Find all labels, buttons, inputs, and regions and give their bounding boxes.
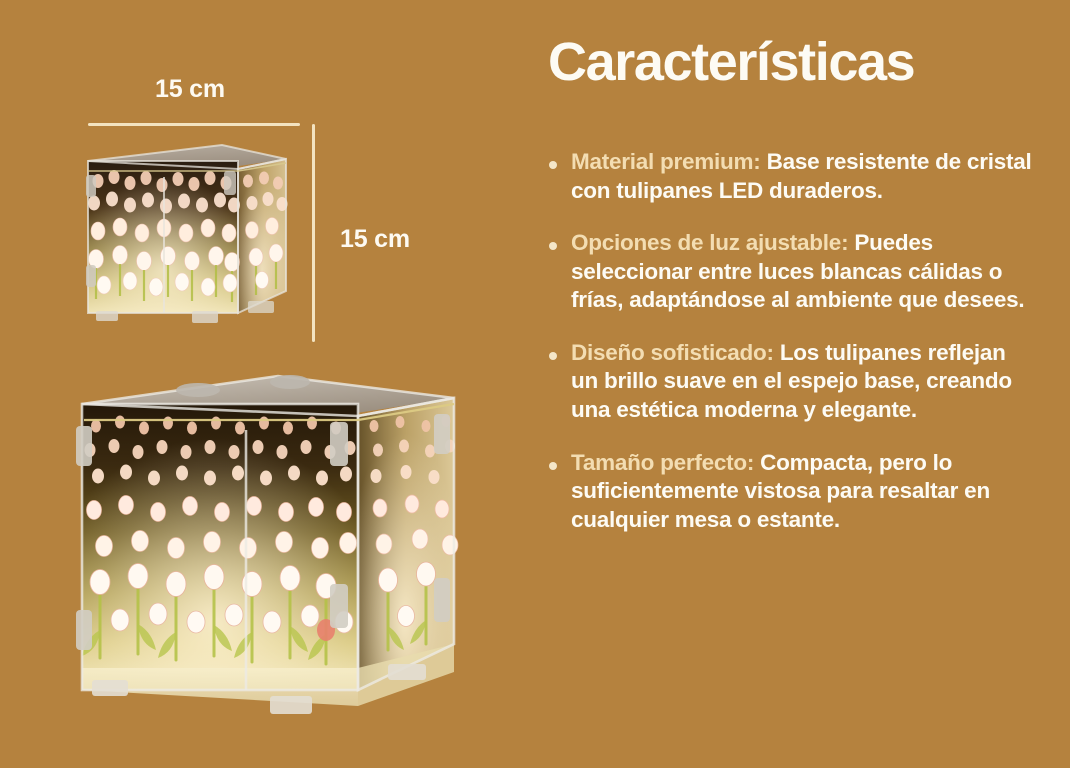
dimension-width-label: 15 cm: [155, 75, 225, 104]
feature-item-material: Material premium: Base resistente de cri…: [532, 148, 1032, 205]
dimension-height-label: 15 cm: [340, 225, 410, 254]
feature-item-tamano: Tamaño perfecto: Compacta, pero lo sufic…: [532, 449, 1032, 535]
product-image-small: [72, 133, 300, 345]
features-panel: Características Material premium: Base r…: [520, 0, 1070, 768]
feature-label: Diseño sofisticado:: [571, 340, 774, 365]
dimension-width-rule: [88, 123, 300, 126]
feature-text: Opciones de luz ajustable: Puedes selecc…: [571, 229, 1032, 315]
feature-list: Material premium: Base resistente de cri…: [532, 148, 1032, 558]
product-image-large: [58, 368, 478, 730]
bullet-dot-icon: [549, 462, 557, 470]
infographic-canvas: 15 cm 15 cm: [0, 0, 1070, 768]
feature-label: Opciones de luz ajustable:: [571, 230, 848, 255]
feature-label: Material premium:: [571, 149, 761, 174]
feature-item-luz-ajustable: Opciones de luz ajustable: Puedes selecc…: [532, 229, 1032, 315]
dimension-height-rule: [312, 124, 315, 342]
feature-item-diseno: Diseño sofisticado: Los tulipanes reflej…: [532, 339, 1032, 425]
feature-text: Diseño sofisticado: Los tulipanes reflej…: [571, 339, 1032, 425]
page-title: Características: [548, 34, 914, 91]
feature-label: Tamaño perfecto:: [571, 450, 754, 475]
bullet-dot-icon: [549, 161, 557, 169]
bullet-dot-icon: [549, 242, 557, 250]
feature-text: Material premium: Base resistente de cri…: [571, 148, 1032, 205]
bullet-dot-icon: [549, 352, 557, 360]
product-panel: 15 cm 15 cm: [0, 0, 520, 768]
feature-text: Tamaño perfecto: Compacta, pero lo sufic…: [571, 449, 1032, 535]
